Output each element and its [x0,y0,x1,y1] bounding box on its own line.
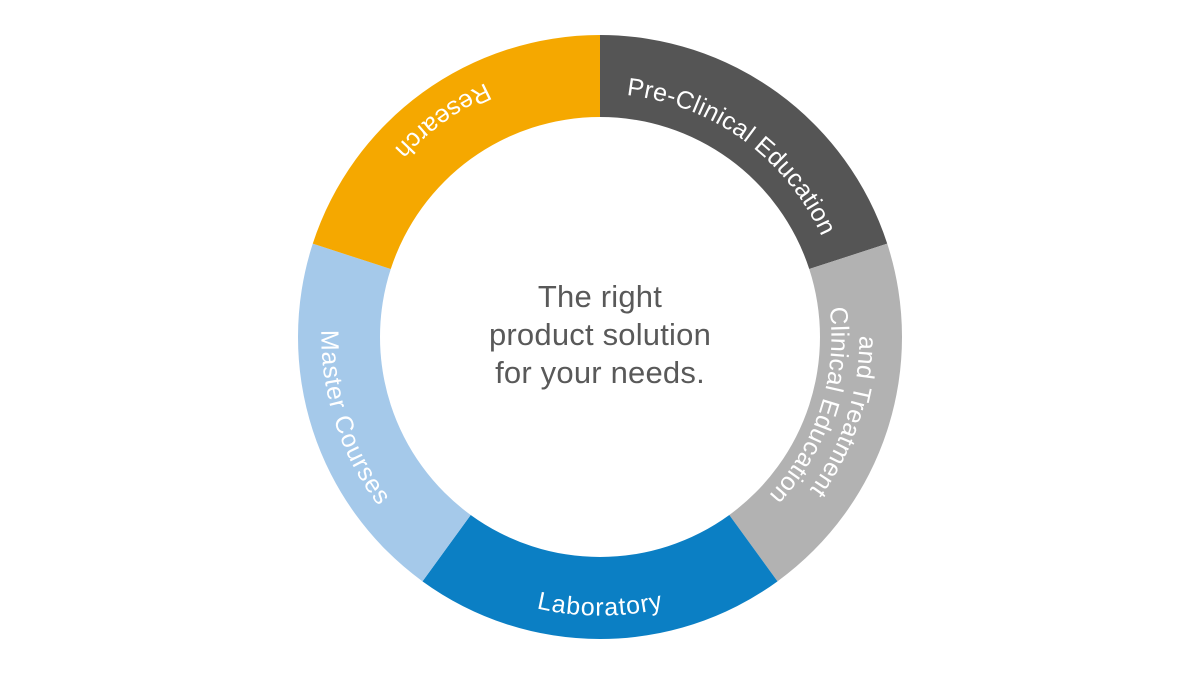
center-caption: The rightproduct solutionfor your needs. [489,279,711,390]
donut-segment-pre-clinical-education[interactable] [600,35,887,269]
diagram-canvas: Pre-Clinical EducationClinical Education… [0,0,1200,675]
donut-segment-research[interactable] [313,35,600,269]
center-caption-line-3: for your needs. [495,355,705,390]
center-caption-line-2: product solution [489,317,711,352]
center-caption-line-1: The right [538,279,662,314]
donut-segment-master-courses[interactable] [298,244,471,582]
donut-chart: Pre-Clinical EducationClinical Education… [0,0,1200,675]
